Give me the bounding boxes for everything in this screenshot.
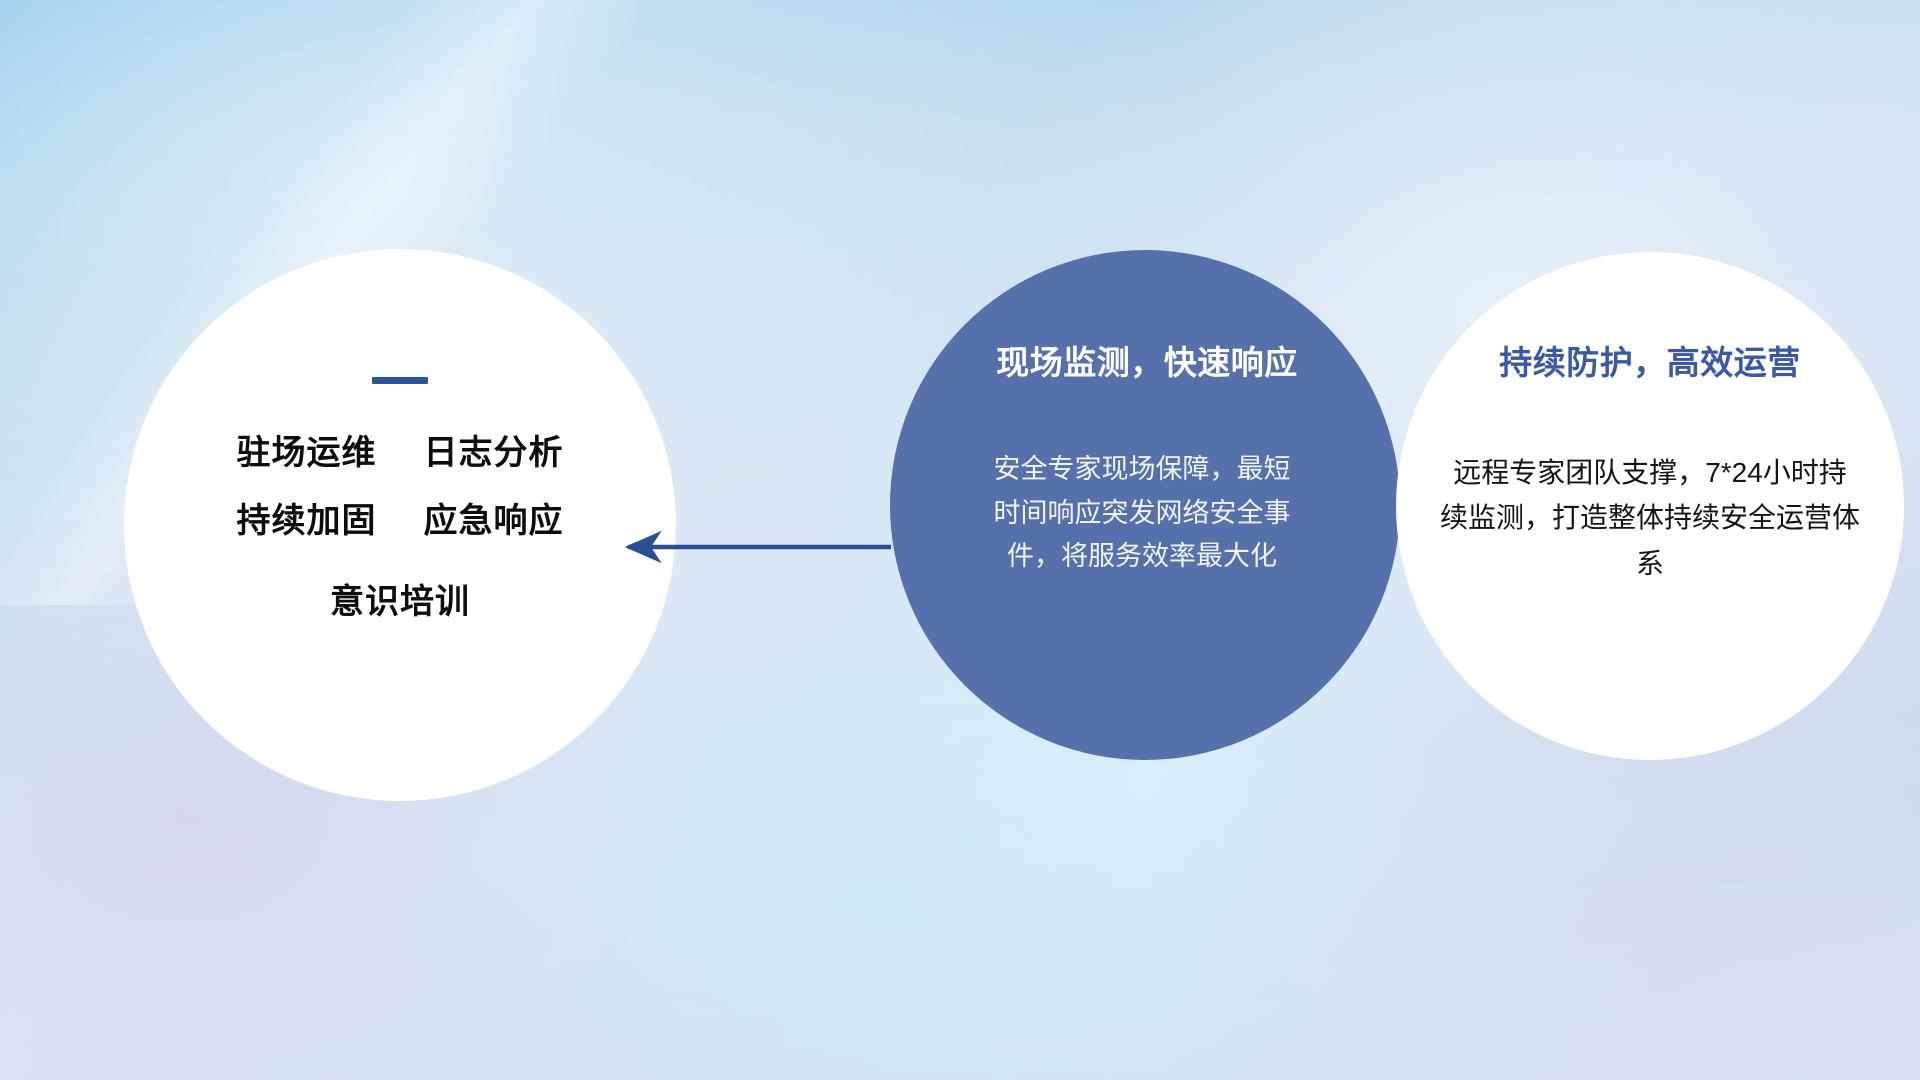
middle-card[interactable]: 现场监测，快速响应 安全专家现场保障，最短时间响应突发网络安全事件，将服务效率最… [890,250,1400,760]
left-card[interactable]: 驻场运维 日志分析 持续加固 应急响应 意识培训 [124,249,676,801]
right-card-body: 远程专家团队支撑，7*24小时持续监测，打造整体持续安全运营体系 [1440,450,1860,586]
left-card-line-3: 意识培训 [330,585,470,621]
right-card-title: 持续防护，高效运营 [1428,336,1872,384]
middle-card-title: 现场监测，快速响应 [946,336,1348,384]
left-card-line-2-first: 持续加固 [237,502,377,540]
middle-card-body: 安全专家现场保障，最短时间响应突发网络安全事件，将服务效率最大化 [983,448,1301,579]
left-card-line-1: 驻场运维 日志分析 [237,436,564,472]
left-card-line-2: 持续加固 应急响应 [237,504,564,540]
slide-canvas: 驻场运维 日志分析 持续加固 应急响应 意识培训 现场监测，快速响应 安全专家现… [0,0,1920,1080]
divider-dash-icon [372,377,428,384]
left-card-line-2-second: 应急响应 [423,502,563,540]
right-card[interactable]: 持续防护，高效运营 远程专家团队支撑，7*24小时持续监测，打造整体持续安全运营… [1396,252,1904,760]
left-card-line-1-second: 日志分析 [423,434,563,472]
left-card-line-1-first: 驻场运维 [237,434,377,472]
